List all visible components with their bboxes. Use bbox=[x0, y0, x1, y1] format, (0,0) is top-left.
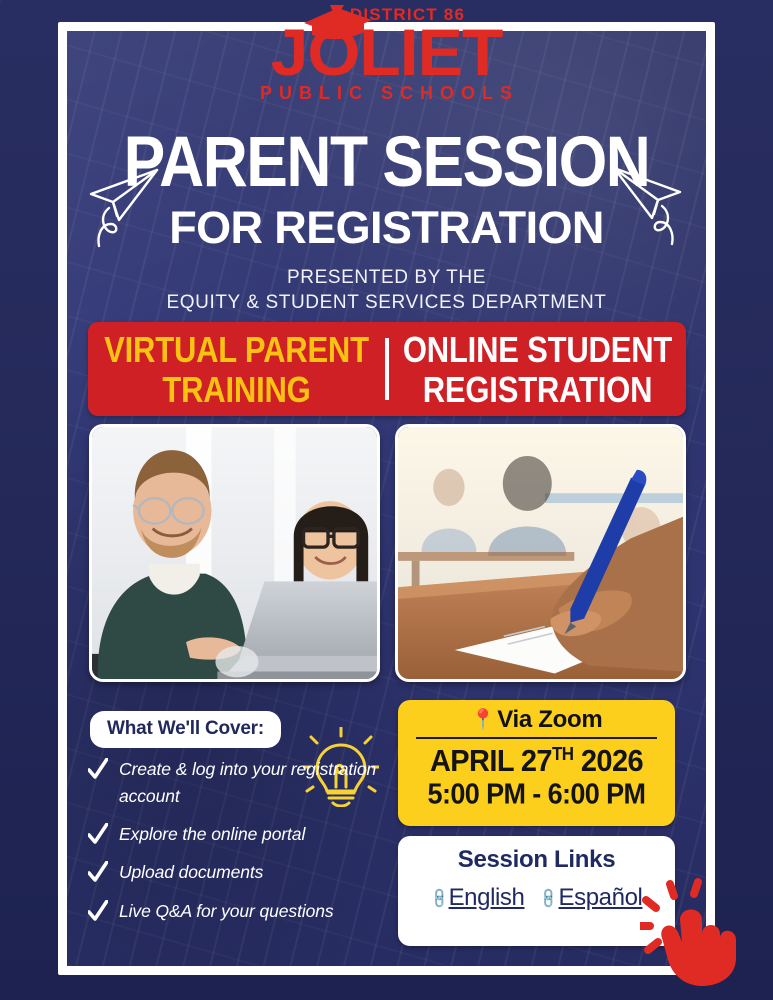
cover-item-label: Explore the online portal bbox=[119, 821, 305, 848]
session-link-english[interactable]: 🔗 English bbox=[431, 884, 525, 912]
what-well-cover-label: What We'll Cover: bbox=[90, 711, 281, 748]
cover-item-label: Live Q&A for your questions bbox=[119, 898, 334, 925]
event-date-month-day: APRIL 27 bbox=[430, 745, 552, 779]
session-link-espanol[interactable]: 🔗 Español bbox=[540, 884, 642, 912]
list-item: Live Q&A for your questions bbox=[88, 898, 388, 925]
headline-group: PARENT SESSION FOR REGISTRATION PRESENTE… bbox=[0, 128, 773, 316]
event-date-year: 2026 bbox=[581, 745, 643, 779]
date-divider bbox=[416, 737, 657, 739]
cover-items-list: Create & log into your registration acco… bbox=[88, 756, 388, 936]
red-banner: VIRTUAL PARENT TRAINING ONLINE STUDENT R… bbox=[88, 322, 686, 416]
session-links-title: Session Links bbox=[398, 847, 675, 873]
date-time-box: 📍 Via Zoom APRIL 27TH 2026 5:00 PM - 6:0… bbox=[398, 700, 675, 826]
flyer-poster: DISTRICT 86 JOLIET PUBLIC SCHOOLS PARENT… bbox=[0, 0, 773, 1000]
photo-student-writing bbox=[395, 424, 686, 682]
list-item: Explore the online portal bbox=[88, 821, 388, 848]
session-links-row: 🔗 English 🔗 Español bbox=[398, 884, 675, 912]
presented-by-line-2: EQUITY & STUDENT SERVICES DEPARTMENT bbox=[0, 290, 773, 316]
map-pin-icon: 📍 bbox=[471, 710, 496, 730]
check-icon bbox=[88, 900, 108, 923]
banner-left-line-1: VIRTUAL PARENT bbox=[94, 331, 379, 368]
list-item: Upload documents bbox=[88, 859, 388, 886]
banner-online-student-registration: ONLINE STUDENT REGISTRATION bbox=[389, 334, 686, 405]
photo-parents-laptop bbox=[89, 424, 380, 682]
cover-item-label: Create & log into your registration acco… bbox=[119, 756, 388, 810]
cover-item-label: Upload documents bbox=[119, 859, 263, 886]
presented-by-line-1: PRESENTED BY THE bbox=[0, 265, 773, 291]
event-date: APRIL 27TH 2026 bbox=[414, 744, 659, 779]
banner-right-line-1: ONLINE STUDENT bbox=[395, 331, 680, 368]
headline-line-1: PARENT SESSION bbox=[4, 128, 769, 198]
event-time: 5:00 PM - 6:00 PM bbox=[414, 778, 659, 811]
joliet-logo: DISTRICT 86 JOLIET PUBLIC SCHOOLS bbox=[0, 6, 773, 102]
event-date-ordinal: TH bbox=[552, 744, 573, 764]
location-label: Via Zoom bbox=[497, 707, 602, 733]
check-icon bbox=[88, 758, 108, 781]
session-link-espanol-label: Español bbox=[559, 884, 643, 912]
chain-link-icon: 🔗 bbox=[427, 886, 451, 910]
chain-link-icon: 🔗 bbox=[537, 886, 561, 910]
banner-virtual-parent-training: VIRTUAL PARENT TRAINING bbox=[88, 334, 385, 405]
list-item: Create & log into your registration acco… bbox=[88, 756, 388, 810]
joliet-wordmark: JOLIET bbox=[271, 21, 503, 83]
session-links-box: Session Links 🔗 English 🔗 Español bbox=[398, 836, 675, 946]
poster-content: DISTRICT 86 JOLIET PUBLIC SCHOOLS PARENT… bbox=[0, 0, 773, 1000]
check-icon bbox=[88, 861, 108, 884]
check-icon bbox=[88, 823, 108, 846]
banner-right-line-2: REGISTRATION bbox=[395, 371, 680, 408]
location-row: 📍 Via Zoom bbox=[414, 707, 659, 733]
joliet-wordmark-row: JOLIET bbox=[274, 21, 499, 83]
banner-left-line-2: TRAINING bbox=[94, 371, 379, 408]
session-link-english-label: English bbox=[449, 884, 525, 912]
headline-line-2: FOR REGISTRATION bbox=[0, 205, 773, 250]
